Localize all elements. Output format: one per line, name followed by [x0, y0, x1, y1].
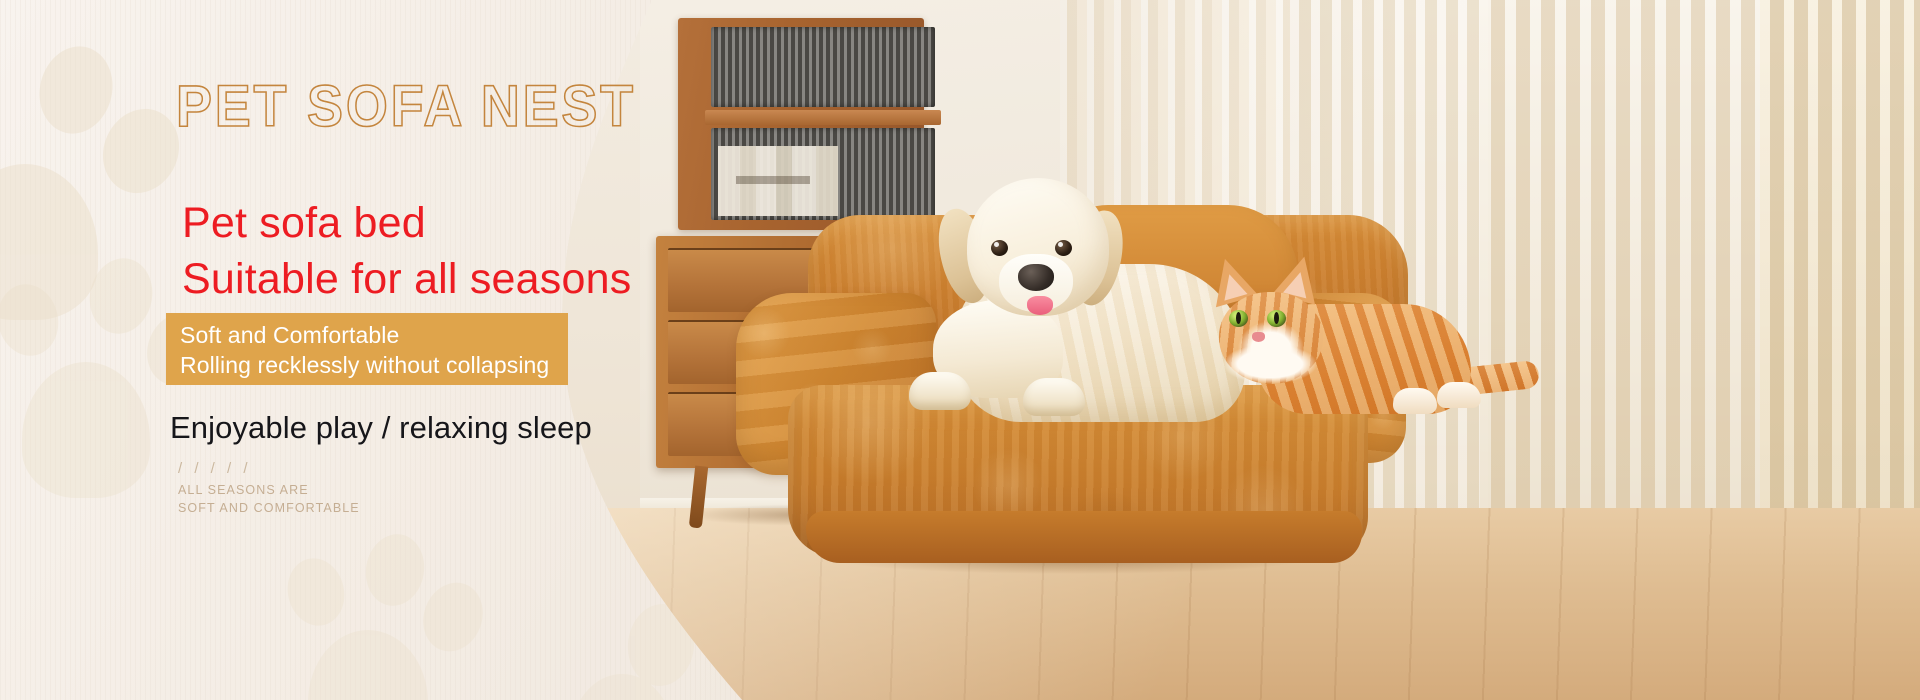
caption-line-2: SOFT AND COMFORTABLE [178, 500, 360, 518]
banner-title: PET SOFA NEST [176, 78, 636, 136]
dog-nose [1018, 264, 1054, 291]
fluted-glass-door [711, 27, 935, 107]
caption-block: / / / / / ALL SEASONS ARE SOFT AND COMFO… [178, 460, 360, 518]
books-on-shelf [718, 146, 838, 216]
cat-chest-ruff [1211, 344, 1329, 394]
dog-eye-right [1055, 240, 1072, 256]
ginger-maine-coon-kitten [1205, 270, 1475, 430]
dog-paw [1023, 378, 1085, 416]
cat-nose [1252, 332, 1265, 342]
cat-eye-left [1229, 310, 1248, 327]
subline-text: Enjoyable play / relaxing sleep [170, 410, 592, 446]
cabinet-upper-section [678, 18, 924, 230]
headline-group: Pet sofa bed Suitable for all seasons [182, 196, 631, 308]
badge-line-2: Rolling recklessly without collapsing [180, 350, 568, 380]
promo-banner: PET SOFA NEST Pet sofa bed Suitable for … [0, 0, 1920, 700]
headline-line-1: Pet sofa bed [182, 199, 426, 247]
headline-line-2: Suitable for all seasons [182, 252, 631, 308]
dog-eye-left [991, 240, 1008, 256]
dog-tongue [1027, 296, 1053, 315]
cat-eye-right [1267, 310, 1286, 327]
golden-retriever-puppy [915, 172, 1245, 422]
badge-line-1: Soft and Comfortable [180, 320, 568, 350]
cat-paw [1437, 382, 1481, 408]
feature-badge: Soft and Comfortable Rolling recklessly … [166, 313, 568, 385]
cabinet-shelf-rail [705, 110, 941, 125]
caption-line-1: ALL SEASONS ARE [178, 482, 360, 500]
bed-seat-front-edge [806, 511, 1362, 563]
cat-paw [1393, 388, 1437, 414]
caption-slashes: / / / / / [178, 460, 360, 477]
dog-paw [909, 372, 971, 410]
banner-text-block: PET SOFA NEST Pet sofa bed Suitable for … [0, 0, 620, 700]
